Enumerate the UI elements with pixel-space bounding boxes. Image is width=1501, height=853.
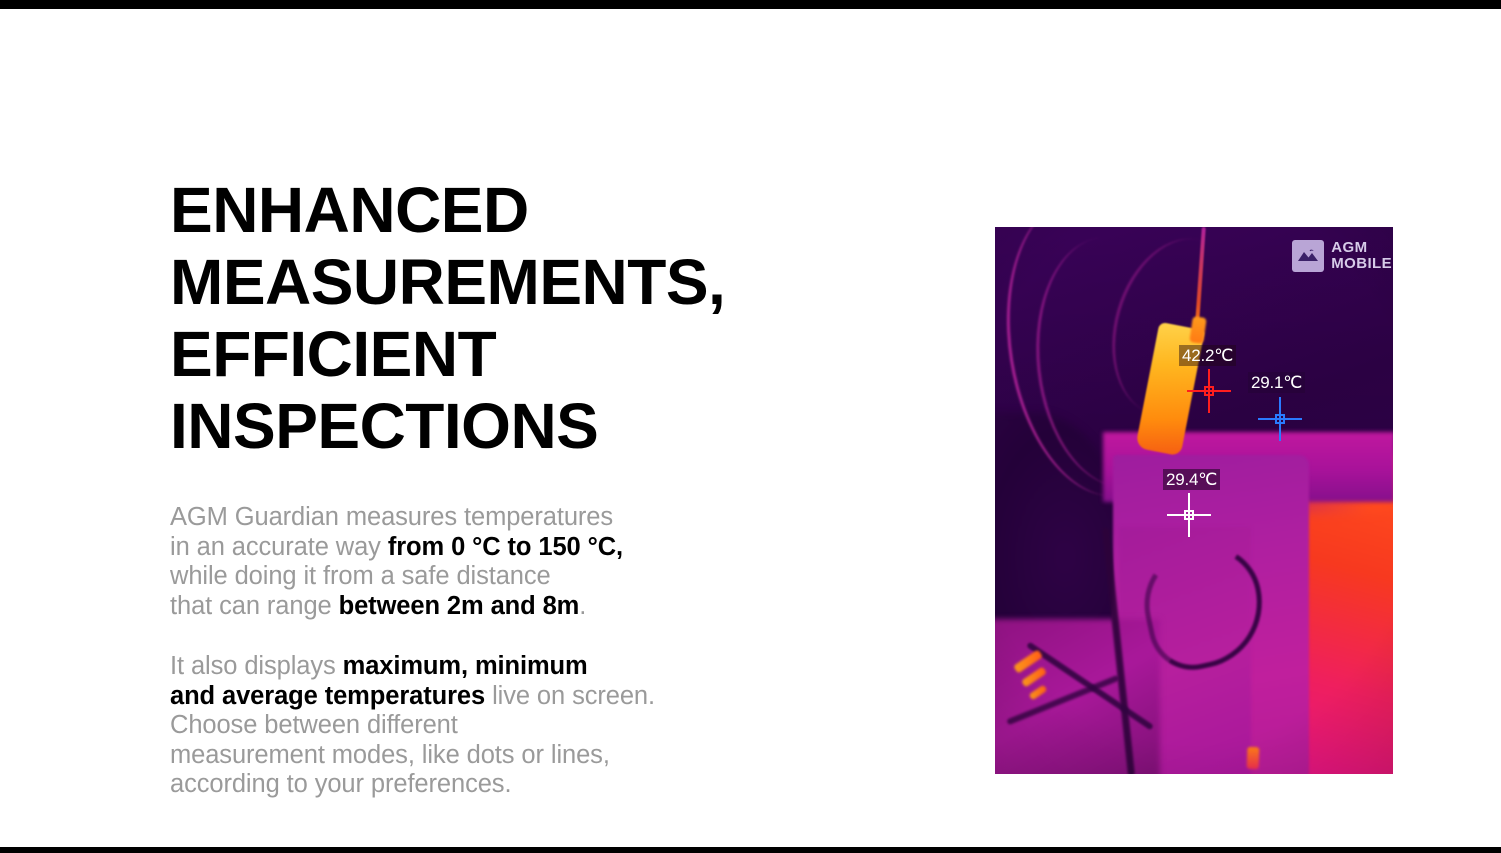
page-title: ENHANCED MEASUREMENTS, EFFICIENT INSPECT… [170, 174, 780, 462]
para2-line2-plain: live on screen. [485, 682, 655, 710]
crosshair-minimum-icon [1258, 397, 1302, 441]
headline-line-4: INSPECTIONS [170, 390, 780, 462]
para2-line-3: Choose between different [170, 711, 780, 741]
crosshair-maximum-icon [1187, 369, 1231, 413]
para1-line4-emphasis: between 2m and 8m [339, 592, 580, 620]
para2-line-2: and average temperatures live on screen. [170, 682, 780, 712]
marker-label-minimum: 29.1℃ [1248, 372, 1305, 393]
watermark-line-2: MOBILE [1331, 256, 1392, 272]
paragraph-temperature-range: AGM Guardian measures temperatures in an… [170, 503, 780, 621]
para1-line-4: that can range between 2m and 8m. [170, 592, 780, 622]
para1-line-3: while doing it from a safe distance [170, 562, 780, 592]
body-copy: AGM Guardian measures temperatures in an… [170, 503, 780, 800]
para1-line-2: in an accurate way from 0 °C to 150 °C, [170, 533, 780, 563]
copy-column: ENHANCED MEASUREMENTS, EFFICIENT INSPECT… [170, 174, 780, 800]
watermark-text: AGM MOBILE [1331, 240, 1392, 272]
para2-line-5: according to your preferences. [170, 770, 780, 800]
para1-line-1: AGM Guardian measures temperatures [170, 503, 780, 533]
para2-line2-emphasis: and average temperatures [170, 682, 485, 710]
crosshair-average-icon [1167, 493, 1211, 537]
marker-label-average: 29.4℃ [1163, 469, 1220, 490]
marker-label-maximum: 42.2℃ [1179, 345, 1236, 366]
watermark-line-1: AGM [1331, 240, 1392, 256]
thermal-hotspot-4 [1247, 747, 1260, 769]
agm-mobile-watermark: AGM MOBILE [1292, 240, 1392, 272]
para1-line4-plain: that can range [170, 592, 339, 620]
para2-line1-plain: It also displays [170, 652, 343, 680]
headline-line-3: EFFICIENT [170, 318, 780, 390]
headline-line-2: MEASUREMENTS, [170, 246, 780, 318]
para1-line2-plain: in an accurate way [170, 533, 388, 561]
para1-line4-tail: . [579, 592, 586, 620]
para1-line2-emphasis: from 0 °C to 150 °C, [388, 533, 623, 561]
para2-line-1: It also displays maximum, minimum [170, 652, 780, 682]
thermal-image: AGM MOBILE 42.2℃ 29.1℃ 29.4℃ [995, 227, 1393, 774]
mountain-peak-icon [1292, 240, 1324, 272]
paragraph-display-modes: It also displays maximum, minimum and av… [170, 652, 780, 800]
letterbox-bar-top [0, 0, 1501, 9]
para2-line1-emphasis: maximum, minimum [343, 652, 588, 680]
letterbox-bar-bottom [0, 847, 1501, 853]
headline-line-1: ENHANCED [170, 174, 780, 246]
slide-canvas: ENHANCED MEASUREMENTS, EFFICIENT INSPECT… [0, 9, 1501, 847]
para2-line-4: measurement modes, like dots or lines, [170, 741, 780, 771]
